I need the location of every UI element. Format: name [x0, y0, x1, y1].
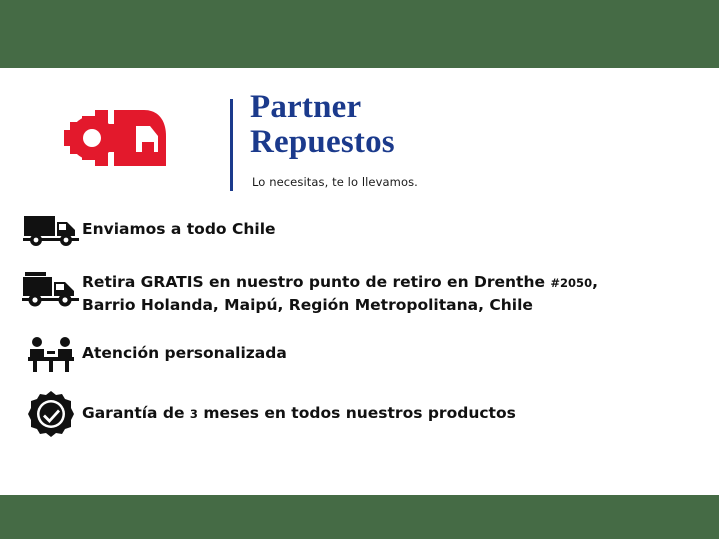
feature-pickup: Retira GRATIS en nuestro punto de retiro… — [0, 268, 719, 316]
warranty-badge-check-icon — [20, 392, 82, 436]
brand-name-line1: Partner — [250, 89, 361, 125]
feature-support: Atención personalizada — [0, 332, 719, 376]
feature-warranty: Garantía de 3 meses en todos nuestros pr… — [0, 392, 719, 436]
feature-warranty-text: Garantía de 3 meses en todos nuestros pr… — [82, 392, 516, 425]
feature-support-text: Atención personalizada — [82, 332, 287, 364]
gear-car-icon — [62, 96, 170, 180]
feature-pickup-address-number: #2050 — [550, 276, 592, 290]
pickup-truck-icon — [20, 268, 82, 312]
brand-divider — [230, 99, 233, 191]
brand-name: Partner Repuestos — [250, 90, 395, 160]
feature-warranty-text-part2: meses en todos nuestros productos — [198, 404, 516, 422]
delivery-truck-icon — [20, 208, 82, 252]
white-content-card: Partner Repuestos Lo necesitas, te lo ll… — [0, 68, 719, 495]
brand-tagline: Lo necesitas, te lo llevamos. — [252, 175, 418, 189]
slide-root: Partner Repuestos Lo necesitas, te lo ll… — [0, 0, 719, 539]
brand-header: Partner Repuestos Lo necesitas, te lo ll… — [62, 96, 682, 206]
feature-shipping-text: Enviamos a todo Chile — [82, 208, 276, 240]
feature-pickup-text: Retira GRATIS en nuestro punto de retiro… — [82, 268, 602, 316]
feature-pickup-text-part1: Retira GRATIS en nuestro punto de retiro… — [82, 273, 550, 291]
feature-shipping: Enviamos a todo Chile — [0, 208, 719, 252]
brand-name-line2: Repuestos — [250, 125, 395, 160]
feature-warranty-text-part1: Garantía de — [82, 404, 190, 422]
customer-service-desk-icon — [20, 332, 82, 376]
feature-warranty-months: 3 — [190, 407, 198, 421]
feature-list: Enviamos a todo Chile — [0, 208, 719, 452]
